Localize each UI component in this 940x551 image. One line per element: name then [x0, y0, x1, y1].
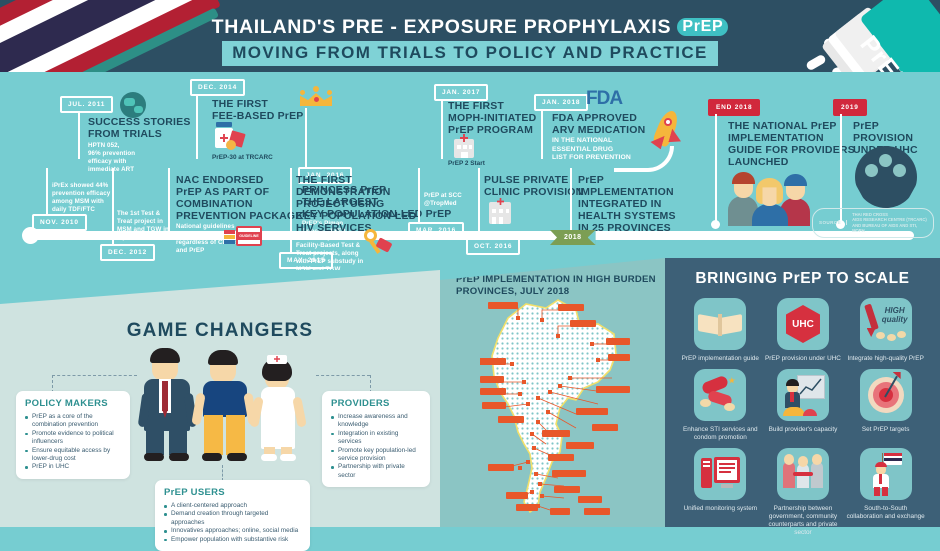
card-policy-makers: POLICY MAKERS PrEP as a core of the comb… — [16, 391, 130, 479]
provider-nurse-person — [254, 355, 302, 463]
timeline-section: JUL. 2011 SUCCESS STORIES FROM TRIALS HP… — [0, 72, 940, 270]
pill-bottle-icon: PrEP — [796, 0, 940, 72]
timeline-date-jul-2011[interactable]: JUL. 2011 — [60, 96, 113, 113]
timeline-node-dot — [711, 220, 720, 229]
connector-line — [78, 113, 80, 159]
timeline-date-jan-2018[interactable]: JAN. 2018 — [534, 94, 588, 111]
chart-line-icon — [799, 377, 823, 397]
source-label: SOURCE — [819, 220, 847, 225]
card-providers: PROVIDERS Increase awareness and knowled… — [322, 391, 430, 487]
page-subtitle: MOVING FROM TRIALS TO POLICY AND PRACTIC… — [222, 41, 718, 66]
card-prep-users: PrEP USERS A client-centered approach De… — [155, 480, 310, 551]
guideline-book-label: GUIDELINE — [236, 232, 262, 240]
timeline-caption-prep2start: PrEP 2 Start — [448, 160, 485, 167]
scale-item-high-quality[interactable]: HIGH quality Integrate high-quality PrEP — [844, 298, 927, 363]
hospital-icon — [450, 134, 478, 158]
clinic-icon — [486, 198, 516, 226]
scale-item-label: Enhance STI services and condom promotio… — [679, 426, 762, 442]
timeline-caption-prep30: PrEP-30 at TRCARC — [212, 154, 273, 161]
scale-item-label: Integrate high-quality PrEP — [844, 355, 927, 363]
scale-item-sti-condom[interactable]: Enhance STI services and condom promotio… — [679, 369, 762, 442]
guideline-book-icon: GUIDELINE — [224, 220, 262, 248]
uhc-people-icon — [855, 146, 917, 208]
high-quality-pills-icon: HIGH quality — [860, 298, 912, 350]
scale-items-grid: PrEP implementation guide UHC PrEP provi… — [679, 298, 927, 537]
timeline-title-fee-based: THE FIRST FEE-BASED PrEP — [212, 98, 304, 122]
timeline-title-moph: THE FIRST MOPH-INITIATED PrEP PROGRAM — [448, 100, 536, 136]
game-changers-figures — [140, 343, 300, 463]
timeline-date-jan-2017[interactable]: JAN. 2017 — [434, 84, 488, 101]
prep-user-person — [198, 347, 252, 463]
diagonal-decoration — [0, 270, 440, 304]
open-book-icon — [694, 298, 746, 350]
scale-item-label: Partnership between government, communit… — [762, 505, 845, 537]
list-item: Ensure equitable access by lower-drug co… — [25, 447, 121, 464]
card-providers-list: Increase awareness and knowledge Integra… — [331, 413, 421, 480]
high-quality-text: HIGH quality — [878, 306, 912, 324]
fda-logo-icon: FDA — [586, 88, 622, 110]
timeline-title-integrated: PrEP IMPLEMENTATION INTEGRATED IN HEALTH… — [578, 174, 676, 234]
list-item: PrEP as a core of the combination preven… — [25, 413, 121, 430]
connector-line — [168, 168, 170, 232]
target-dart-icon — [860, 369, 912, 421]
subtitle-wrap: MOVING FROM TRIALS TO POLICY AND PRACTIC… — [160, 41, 780, 66]
thailand-map-shape — [480, 296, 630, 518]
header-banner: THAILAND'S PRE - EXPOSURE PROPHYLAXIS Pr… — [0, 0, 940, 72]
uhc-hexagon-icon: UHC — [777, 298, 829, 350]
timeline-sub-scc: PrEP at SCC @TropMed — [424, 192, 462, 208]
scale-item-label: South-to-South collaboration and exchang… — [844, 505, 927, 521]
card-policy-makers-heading: POLICY MAKERS — [25, 398, 121, 409]
timeline-title-national-guide: THE NATIONAL PrEP IMPLEMENTATION GUIDE F… — [728, 120, 855, 168]
connector-line — [290, 168, 292, 254]
list-item: Promote key population-led service provi… — [331, 447, 421, 464]
list-item: PrEP in UHC — [25, 463, 121, 471]
timeline-title-success-stories: SUCCESS STORIES FROM TRIALS — [88, 116, 191, 140]
list-item: Empower population with substantive risk — [164, 536, 301, 544]
timeline-date-2019[interactable]: 2019 — [833, 99, 867, 116]
timeline-date-dec-2014[interactable]: DEC. 2014 — [190, 79, 245, 96]
policy-maker-person — [140, 343, 194, 463]
scale-item-partnership[interactable]: Partnership between government, communit… — [762, 448, 845, 537]
connector-line — [305, 108, 307, 167]
scale-panel: BRINGING PrEP TO SCALE PrEP implementati… — [665, 258, 940, 527]
list-item: Partnership with private sector — [331, 463, 421, 480]
scale-item-uhc-provision[interactable]: UHC PrEP provision under UHC — [762, 298, 845, 363]
pill-bottle-money-icon — [214, 122, 244, 150]
list-item: Integration in existing services — [331, 430, 421, 447]
connector-dotted — [52, 375, 137, 376]
connector-line — [418, 168, 420, 224]
timeline-title-fda: FDA APPROVED ARV MEDICATION — [552, 112, 645, 136]
timeline-date-oct-2016[interactable]: OCT. 2016 — [466, 238, 520, 255]
scale-item-label: Set PrEP targets — [844, 426, 927, 434]
monitor-computer-icon — [694, 448, 746, 500]
timeline-title-demonstration: THE FIRST DEMONSTRATION PROJECT USING KE… — [296, 174, 416, 234]
connector-line — [840, 114, 842, 223]
scale-title: BRINGING PrEP TO SCALE — [665, 270, 940, 288]
connector-line — [478, 168, 480, 240]
handshake-group-icon — [777, 448, 829, 500]
presenter-chart-icon — [777, 369, 829, 421]
infographic-root: THAILAND'S PRE - EXPOSURE PROPHYLAXIS Pr… — [0, 0, 940, 527]
source-attribution: SOURCE THAI RED CROSS AIDS RESEARCH CENT… — [812, 208, 934, 238]
card-policy-makers-list: PrEP as a core of the combination preven… — [25, 413, 121, 472]
globe-icon — [120, 92, 146, 118]
three-people-icon — [728, 168, 812, 226]
map-title: PrEP IMPLEMENTATION IN HIGH BURDEN PROVI… — [456, 274, 656, 298]
game-changers-panel: GAME CHANGERS — [0, 270, 440, 527]
uhc-hexagon-text: UHC — [786, 305, 820, 343]
connector-line — [570, 168, 572, 234]
bottom-section: GAME CHANGERS — [0, 258, 940, 527]
connector-line — [196, 96, 198, 159]
scale-item-monitoring[interactable]: Unified monitoring system — [679, 448, 762, 537]
card-providers-heading: PROVIDERS — [331, 398, 421, 409]
timeline-date-mar-2016[interactable]: MAR. 2016 — [408, 222, 464, 239]
source-text: THAI RED CROSS AIDS RESEARCH CENTRE (TRC… — [852, 212, 927, 234]
rocket-icon — [640, 108, 694, 164]
timeline-date-nov-2010[interactable]: NOV. 2010 — [32, 214, 87, 231]
scale-item-implementation-guide[interactable]: PrEP implementation guide — [679, 298, 762, 363]
scale-item-south-to-south[interactable]: South-to-South collaboration and exchang… — [844, 448, 927, 537]
timeline-title-pulse: PULSE PRIVATE CLINIC PROVISION — [484, 174, 583, 198]
timeline-sub-iprex: iPrEx showed 44% prevention efficacy amo… — [52, 182, 110, 214]
timeline-sub-test-treat: The 1st Test & Treat project in MSM and … — [117, 210, 169, 242]
list-item: Increase awareness and knowledge — [331, 413, 421, 430]
key-icon — [362, 227, 394, 255]
game-changers-title: GAME CHANGERS — [0, 320, 440, 342]
connector-line — [441, 101, 443, 159]
connector-line — [541, 111, 543, 159]
scale-title-part-2: TO SCALE — [827, 270, 910, 287]
title-prep-badge: PrEP — [677, 18, 728, 36]
connector-dotted — [316, 375, 370, 376]
scale-item-label: PrEP implementation guide — [679, 355, 762, 363]
scale-item-label: PrEP provision under UHC — [762, 355, 845, 363]
list-item: Demand creation through targeted approac… — [164, 510, 301, 527]
condom-icon — [694, 369, 746, 421]
scale-title-part-1: BRINGING — [695, 270, 777, 287]
connector-dotted — [222, 465, 223, 481]
crown-icon — [300, 89, 332, 107]
title-part-1: THAILAND'S PRE - EXPOSURE PROPHYLAXIS — [212, 16, 672, 38]
card-prep-users-list: A client-centered approach Demand creati… — [164, 502, 301, 544]
connector-line — [715, 114, 717, 223]
scale-item-label: Build provider's capacity — [762, 426, 845, 434]
list-item: Promote evidence to political influencer… — [25, 430, 121, 447]
flag-person-icon — [860, 448, 912, 500]
scale-title-badge: PrEP — [783, 270, 822, 287]
list-item: A client-centered approach — [164, 502, 301, 510]
map-panel: PrEP IMPLEMENTATION IN HIGH BURDEN PROVI… — [440, 258, 665, 527]
scale-item-label: Unified monitoring system — [679, 505, 762, 513]
thailand-map-svg — [480, 296, 630, 518]
scale-item-set-targets[interactable]: Set PrEP targets — [844, 369, 927, 442]
card-prep-users-heading: PrEP USERS — [164, 487, 301, 498]
connector-line — [112, 168, 114, 246]
timeline-title-nac: NAC ENDORSED PrEP AS PART OF COMBINATION… — [176, 174, 303, 222]
scale-item-build-capacity[interactable]: Build provider's capacity — [762, 369, 845, 442]
connector-line — [46, 168, 48, 216]
list-item: Innovatives approaches; online, social m… — [164, 527, 301, 535]
